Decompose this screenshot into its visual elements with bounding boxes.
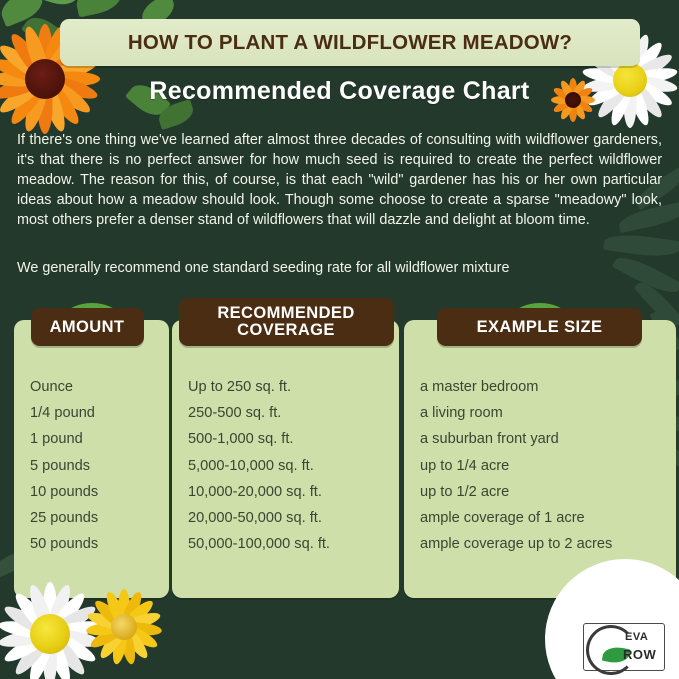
list-item: 50 pounds: [30, 531, 185, 557]
list-item: up to 1/4 acre: [420, 453, 679, 479]
list-item: 1/4 pound: [30, 400, 185, 426]
list-item: ample coverage of 1 acre: [420, 505, 679, 531]
yellow-coreopsis-flower: [82, 585, 166, 669]
logo[interactable]: EVA ROW: [583, 623, 665, 671]
logo-text-row: ROW: [623, 647, 656, 662]
logo-text-eva: EVA: [625, 631, 648, 643]
list-item: 500-1,000 sq. ft.: [188, 426, 415, 452]
list-item: 20,000-50,000 sq. ft.: [188, 505, 415, 531]
list-item: 5 pounds: [30, 453, 185, 479]
list-item: a living room: [420, 400, 679, 426]
list-item: 10,000-20,000 sq. ft.: [188, 479, 415, 505]
recommendation-paragraph: We generally recommend one standard seed…: [17, 258, 662, 278]
column-example-header: EXAMPLE SIZE: [437, 308, 642, 346]
list-item: 5,000-10,000 sq. ft.: [188, 453, 415, 479]
list-item: up to 1/2 acre: [420, 479, 679, 505]
column-example-header-label: EXAMPLE SIZE: [477, 319, 603, 336]
column-coverage-rows: Up to 250 sq. ft. 250-500 sq. ft. 500-1,…: [172, 374, 415, 557]
column-amount-rows: Ounce 1/4 pound 1 pound 5 pounds 10 poun…: [14, 374, 185, 557]
list-item: 1 pound: [30, 426, 185, 452]
page-title: HOW TO PLANT A WILDFLOWER MEADOW?: [60, 19, 640, 66]
intro-paragraph: If there's one thing we've learned after…: [17, 130, 662, 230]
column-amount-header-label: AMOUNT: [50, 319, 125, 336]
list-item: 10 pounds: [30, 479, 185, 505]
column-example-rows: a master bedroom a living room a suburba…: [404, 374, 679, 557]
list-item: 50,000-100,000 sq. ft.: [188, 531, 415, 557]
page-subtitle: Recommended Coverage Chart: [0, 77, 679, 106]
list-item: Up to 250 sq. ft.: [188, 374, 415, 400]
column-coverage-header-line2: COVERAGE: [237, 322, 335, 339]
column-amount-header: AMOUNT: [31, 308, 144, 346]
list-item: a master bedroom: [420, 374, 679, 400]
list-item: 250-500 sq. ft.: [188, 400, 415, 426]
list-item: a suburban front yard: [420, 426, 679, 452]
column-coverage-header: RECOMMENDED COVERAGE: [179, 298, 394, 346]
infographic-canvas: HOW TO PLANT A WILDFLOWER MEADOW? Recomm…: [0, 0, 679, 679]
list-item: 25 pounds: [30, 505, 185, 531]
list-item: Ounce: [30, 374, 185, 400]
list-item: ample coverage up to 2 acres: [420, 531, 679, 557]
column-coverage-header-line1: RECOMMENDED: [217, 305, 354, 322]
